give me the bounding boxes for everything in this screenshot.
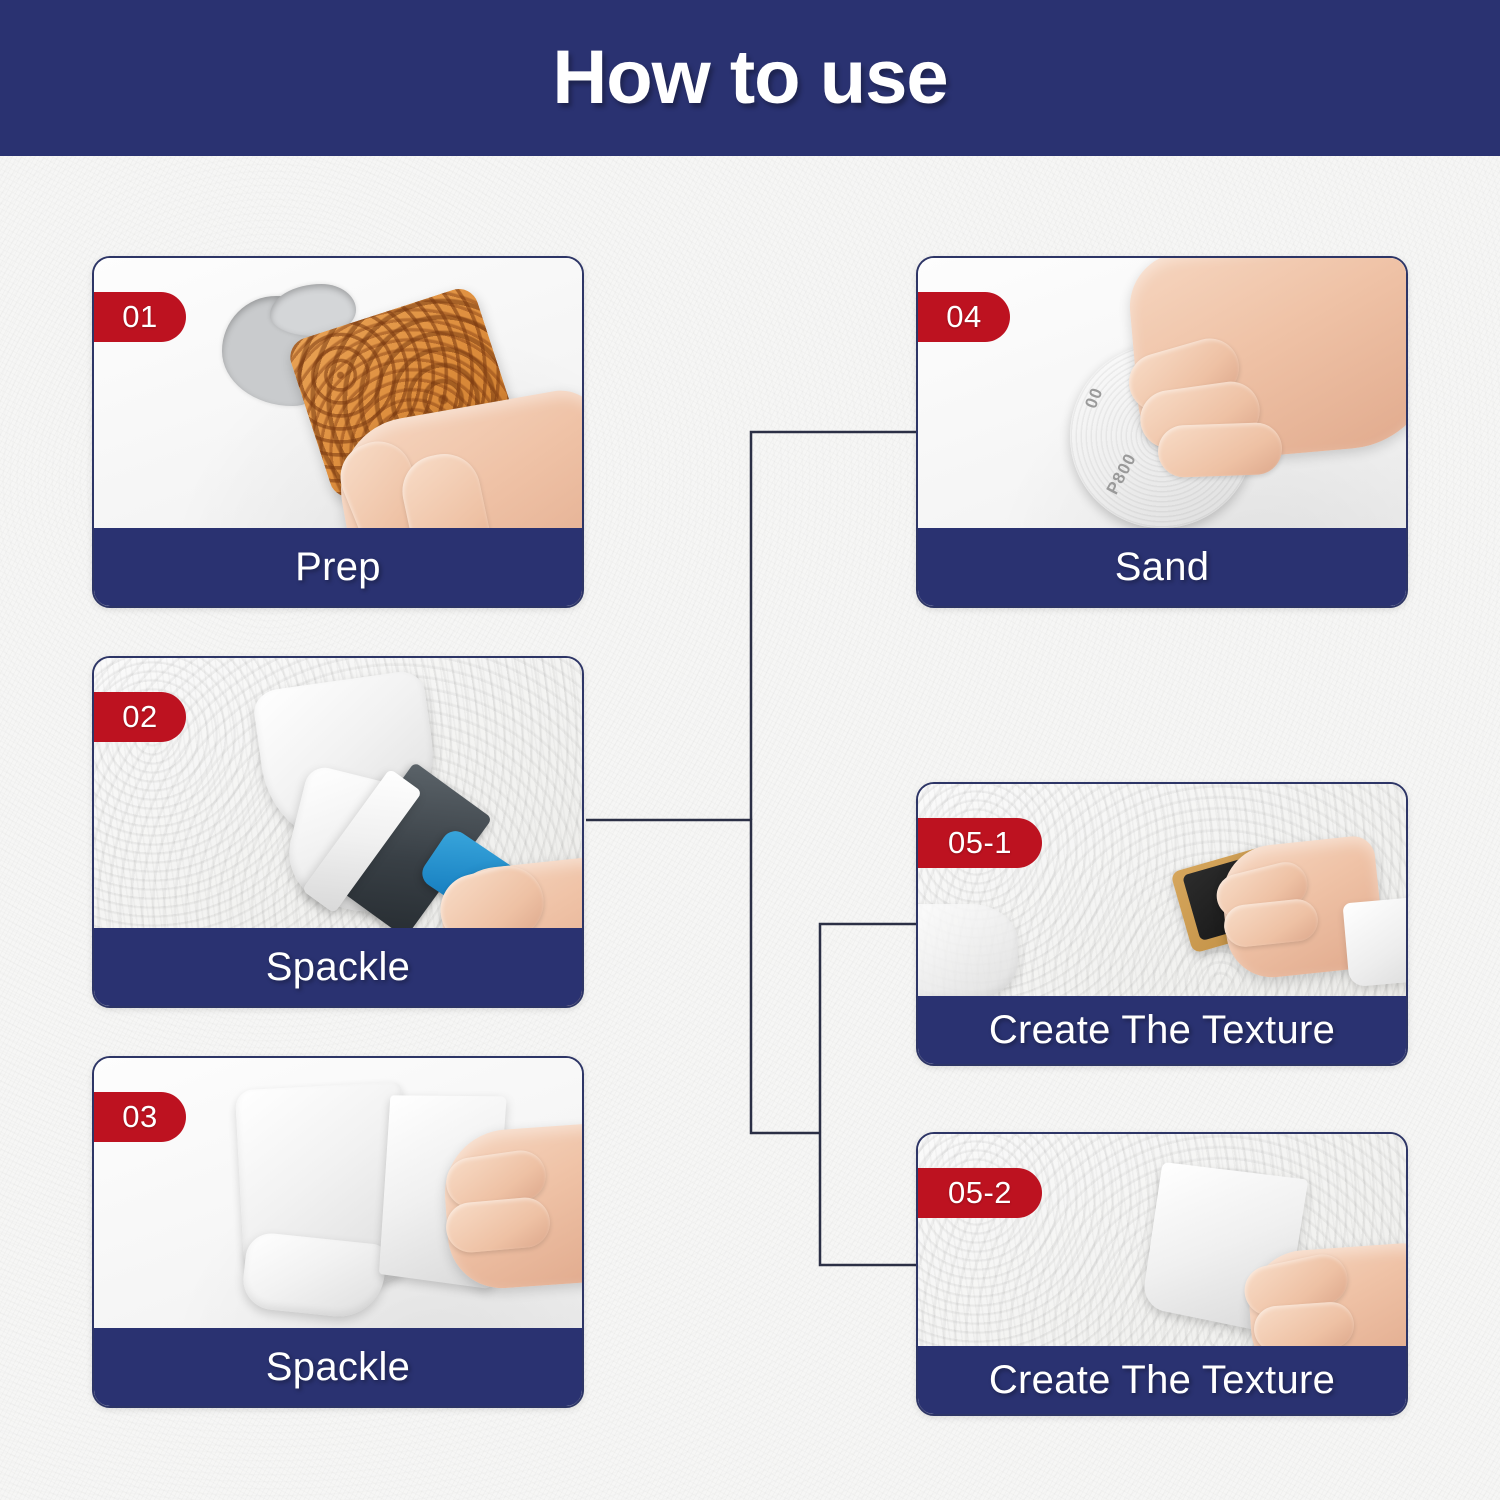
step-caption-03: Spackle — [94, 1328, 582, 1406]
smooth-patch — [918, 904, 1018, 1000]
connector-trunk — [586, 820, 820, 1133]
step-card-02[interactable]: Spackle 02 — [92, 656, 584, 1008]
connector-to-step-05-1 — [820, 924, 916, 1133]
step-caption-label: Create The Texture — [989, 1358, 1335, 1403]
step-card-04[interactable]: P800 00 Sand 04 — [916, 256, 1408, 608]
step-caption-label: Sand — [1115, 545, 1210, 590]
step-card-01[interactable]: Prep 01 — [92, 256, 584, 608]
step-badge-04: 04 — [918, 292, 1010, 342]
step-caption-05-2: Create The Texture — [918, 1346, 1406, 1414]
step-caption-01: Prep — [94, 528, 582, 606]
step-card-03[interactable]: Spackle 03 — [92, 1056, 584, 1408]
finger — [1157, 422, 1283, 478]
step-caption-label: Spackle — [266, 945, 410, 990]
step-badge-05-1: 05-1 — [918, 818, 1042, 868]
step-caption-label: Spackle — [266, 1345, 410, 1390]
page-title: How to use — [552, 40, 947, 116]
step-badge-05-2: 05-2 — [918, 1168, 1042, 1218]
connector-to-step-05-2 — [820, 1133, 916, 1265]
step-card-05-1[interactable]: Create The Texture 05-1 — [916, 782, 1408, 1066]
page-header: How to use — [0, 0, 1500, 156]
spackle-edge — [240, 1231, 387, 1321]
step-badge-02: 02 — [94, 692, 186, 742]
step-caption-label: Prep — [295, 545, 381, 590]
infographic-page: How to use Prep 01 — [0, 0, 1500, 1500]
step-badge-03: 03 — [94, 1092, 186, 1142]
step-caption-02: Spackle — [94, 928, 582, 1006]
connector-to-step-04 — [751, 432, 916, 820]
step-caption-label: Create The Texture — [989, 1008, 1335, 1053]
shirt-sleeve — [1342, 897, 1406, 987]
step-caption-05-1: Create The Texture — [918, 996, 1406, 1064]
step-card-05-2[interactable]: Create The Texture 05-2 — [916, 1132, 1408, 1416]
step-badge-01: 01 — [94, 292, 186, 342]
step-caption-04: Sand — [918, 528, 1406, 606]
